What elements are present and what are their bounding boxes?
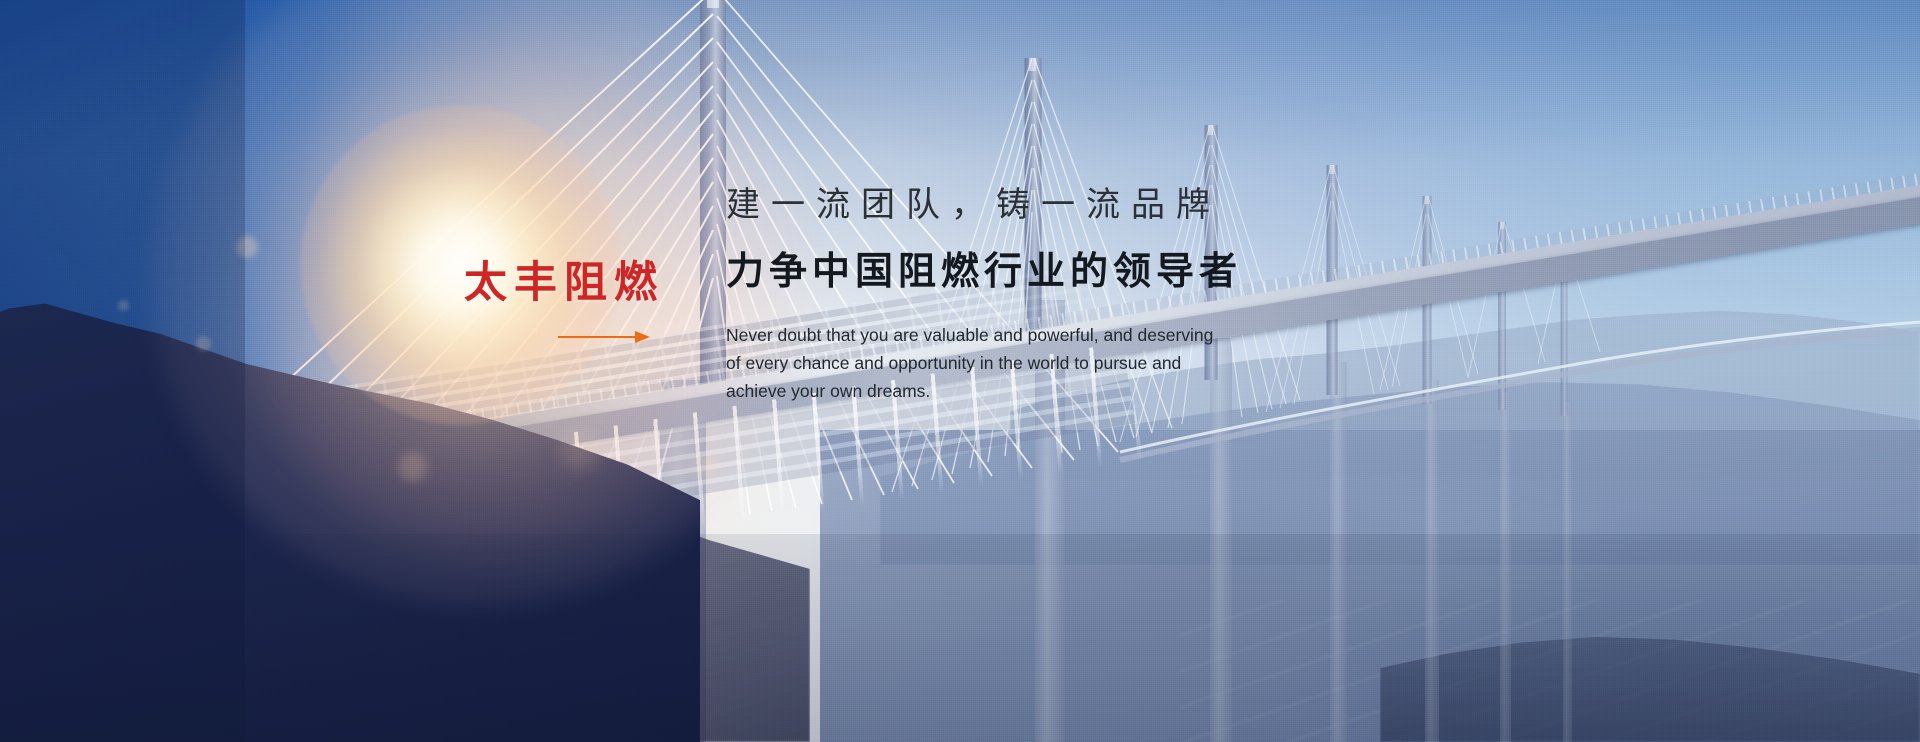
- banner-content: 太丰阻燃 建一流团队，铸一流品牌 力争中国阻燃行业的领导者 Never doub…: [0, 0, 1920, 742]
- hero-banner: 太丰阻燃 建一流团队，铸一流品牌 力争中国阻燃行业的领导者 Never doub…: [0, 0, 1920, 742]
- brand-logo[interactable]: 太丰阻燃: [464, 262, 694, 343]
- banner-copy: 建一流团队，铸一流品牌 力争中国阻燃行业的领导者 Never doubt tha…: [726, 185, 1426, 405]
- paragraph-line-2: of every chance and opportunity in the w…: [726, 349, 1286, 377]
- paragraph-line-3: achieve your own dreams.: [726, 377, 1286, 405]
- headline-secondary: 力争中国阻燃行业的领导者: [726, 250, 1426, 296]
- paragraph-line-1: Never doubt that you are valuable and po…: [726, 321, 1286, 349]
- headline-primary: 建一流团队，铸一流品牌: [726, 185, 1426, 228]
- arrow-right-icon: [558, 331, 650, 343]
- banner-paragraph: Never doubt that you are valuable and po…: [726, 321, 1286, 405]
- brand-logo-text: 太丰阻燃: [464, 262, 694, 305]
